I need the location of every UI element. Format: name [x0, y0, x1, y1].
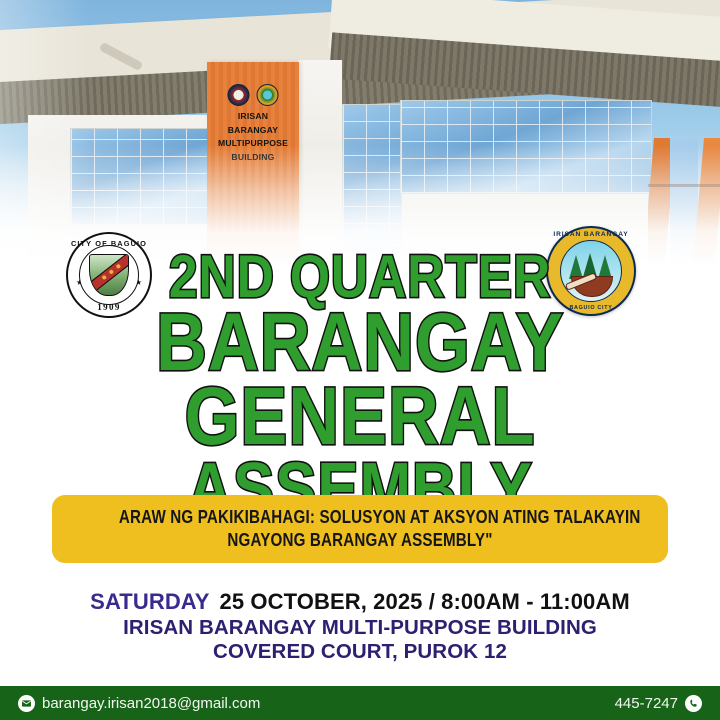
building-photo: IRISAN BARANGAY MULTIPURPOSE BUILDING [0, 0, 720, 265]
email-contact[interactable]: barangay.irisan2018@gmail.com [18, 695, 260, 712]
sign-line-1: IRISAN [207, 110, 299, 124]
event-details: SATURDAY25 OCTOBER, 2025 / 8:00AM - 11:0… [0, 588, 720, 664]
poster-canvas: IRISAN BARANGAY MULTIPURPOSE BUILDING CI… [0, 0, 720, 720]
irisan-seal-icon [257, 84, 279, 106]
headline-line-2: BARANGAY GENERAL [50, 306, 669, 454]
venue-line-2: COVERED COURT, PUROK 12 [0, 640, 720, 664]
date-line: SATURDAY25 OCTOBER, 2025 / 8:00AM - 11:0… [0, 588, 720, 616]
contact-footer: barangay.irisan2018@gmail.com 445-7247 [0, 686, 720, 720]
phone-icon [685, 695, 702, 712]
event-date-time: 25 OCTOBER, 2025 / 8:00AM - 11:00AM [220, 589, 630, 614]
theme-line-1: ARAW NG PAKIKIBAHAGI: SOLUSYON AT AKSYON… [119, 505, 601, 528]
email-address: barangay.irisan2018@gmail.com [42, 695, 260, 712]
phone-contact[interactable]: 445-7247 [615, 695, 702, 712]
venue-line-1: IRISAN BARANGAY MULTI-PURPOSE BUILDING [0, 616, 720, 640]
headline-block: 2ND QUARTER BARANGAY GENERAL ASSEMBLY [0, 248, 720, 524]
theme-line-2: NGAYONG BARANGAY ASSEMBLY" [119, 528, 601, 551]
column-seals [228, 84, 279, 106]
envelope-icon [18, 695, 35, 712]
irisan-seal-ring-top: IRISAN BARANGAY [548, 231, 634, 238]
theme-banner: ARAW NG PAKIKIBAHAGI: SOLUSYON AT AKSYON… [52, 495, 668, 563]
sign-line-2: BARANGAY [207, 124, 299, 138]
baguio-seal-icon [228, 84, 250, 106]
phone-number: 445-7247 [615, 695, 678, 712]
event-day: SATURDAY [90, 589, 209, 614]
